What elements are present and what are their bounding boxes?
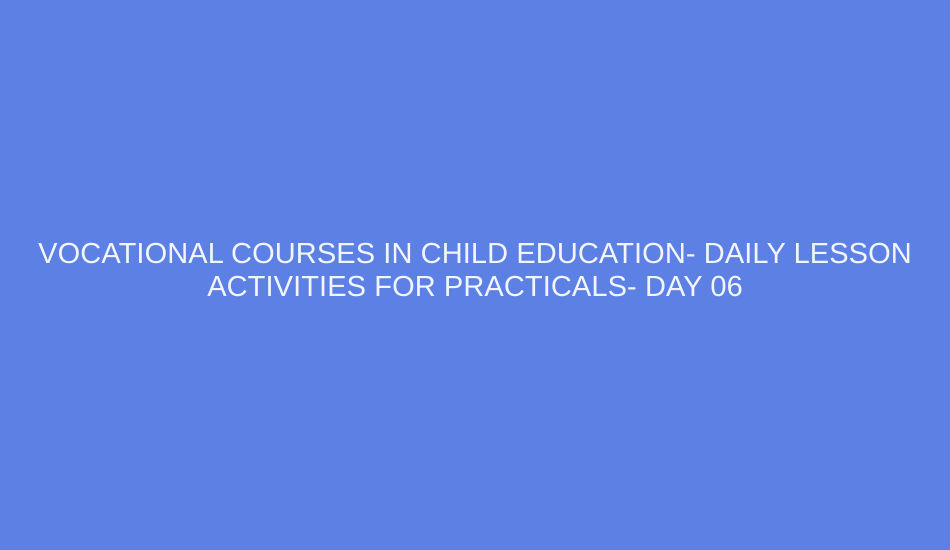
title-banner: VOCATIONAL COURSES IN CHILD EDUCATION- D… <box>0 0 950 550</box>
page-title: VOCATIONAL COURSES IN CHILD EDUCATION- D… <box>0 238 950 304</box>
title-block: VOCATIONAL COURSES IN CHILD EDUCATION- D… <box>0 0 950 550</box>
